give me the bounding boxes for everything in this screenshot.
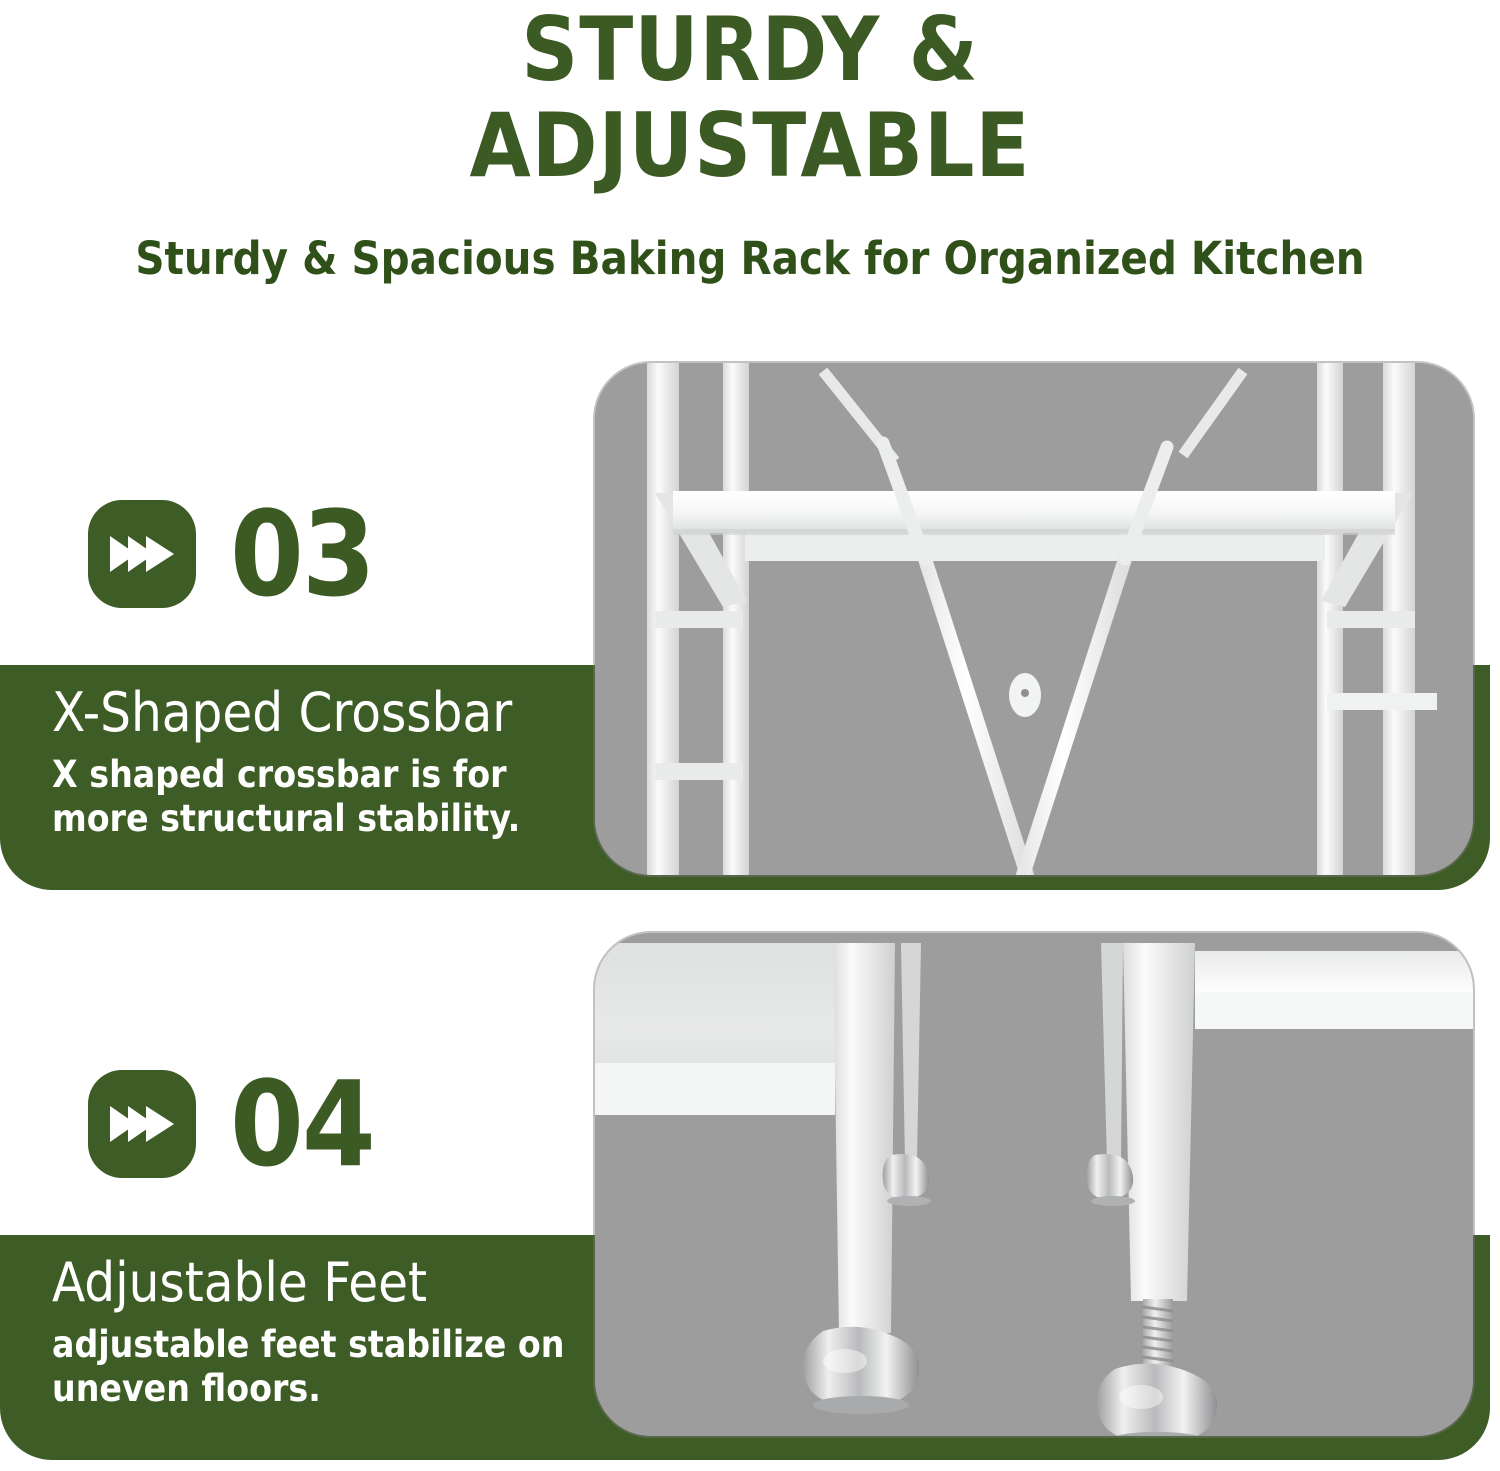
step-marker-03: 03 xyxy=(88,495,374,613)
banner-text-block-04: Adjustable Feet adjustable feet stabiliz… xyxy=(52,1253,572,1411)
feature-description-04: adjustable feet stabilize on uneven floo… xyxy=(52,1323,572,1410)
fast-forward-icon xyxy=(88,500,196,608)
banner-text-block-03: X-Shaped Crossbar X shaped crossbar is f… xyxy=(52,683,572,841)
feature-heading-03: X-Shaped Crossbar xyxy=(52,683,572,743)
step-number-04: 04 xyxy=(230,1065,374,1183)
feature-description-03: X shaped crossbar is for more structural… xyxy=(52,753,572,840)
feature-card-04: Adjustable Feet adjustable feet stabiliz… xyxy=(0,925,1500,1465)
fast-forward-icon xyxy=(88,1070,196,1178)
title-line-2: ADJUSTABLE xyxy=(0,98,1500,194)
step-number-03: 03 xyxy=(230,495,374,613)
page-subtitle: Sturdy & Spacious Baking Rack for Organi… xyxy=(0,232,1500,285)
feature-photo-03 xyxy=(595,363,1473,875)
page-title: STURDY & ADJUSTABLE xyxy=(0,2,1500,194)
feature-heading-04: Adjustable Feet xyxy=(52,1253,572,1313)
title-line-1: STURDY & xyxy=(0,2,1500,98)
feature-photo-04 xyxy=(595,933,1473,1436)
step-marker-04: 04 xyxy=(88,1065,374,1183)
feature-card-03: X-Shaped Crossbar X shaped crossbar is f… xyxy=(0,355,1500,900)
header: STURDY & ADJUSTABLE Sturdy & Spacious Ba… xyxy=(0,0,1500,285)
